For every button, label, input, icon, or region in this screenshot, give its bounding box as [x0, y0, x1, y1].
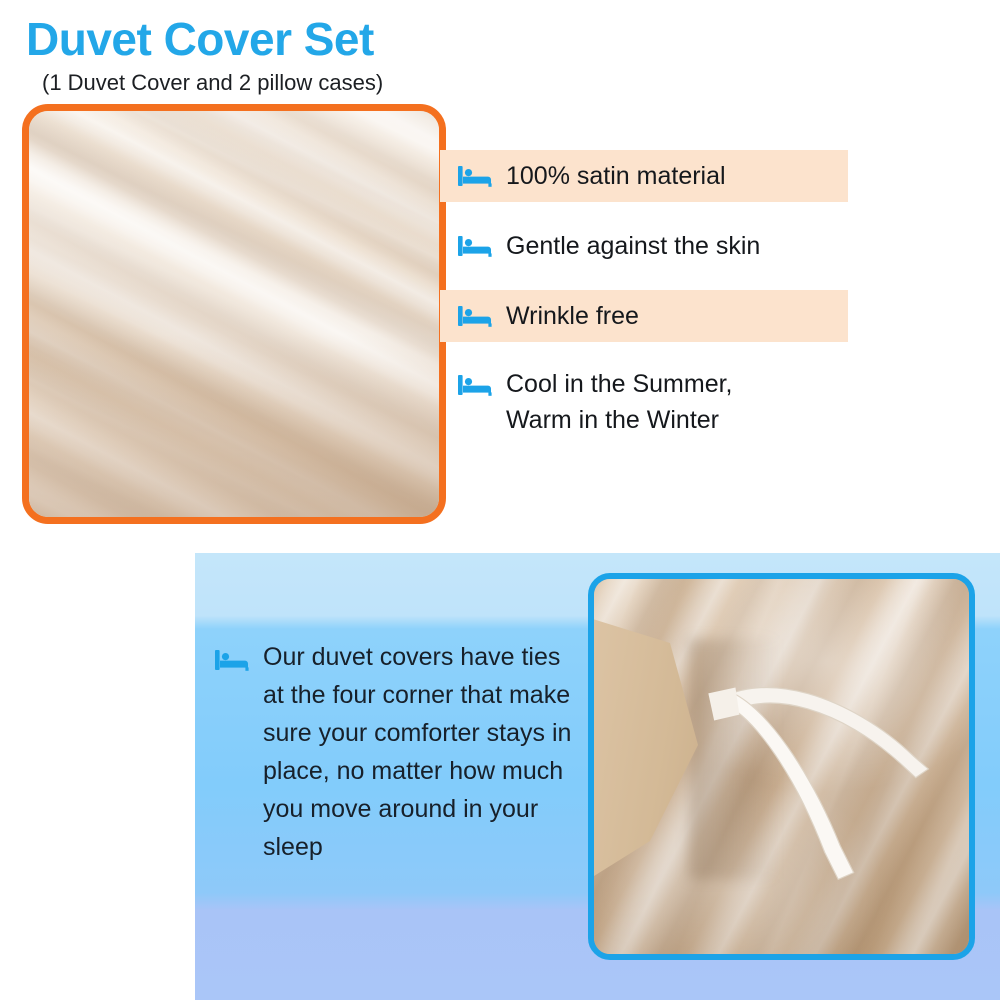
fabric-photo [22, 104, 446, 524]
feature-text: Wrinkle free [506, 298, 639, 334]
satin-shade-layer [29, 111, 439, 517]
feature-row: 100% satin material [440, 150, 848, 202]
feature-text: Gentle against the skin [506, 228, 760, 264]
feature-row: Wrinkle free [440, 290, 848, 342]
infographic-page: Duvet Cover Set (1 Duvet Cover and 2 pil… [0, 0, 1000, 1000]
feature-row: Gentle against the skin [440, 220, 760, 272]
top-section: Duvet Cover Set (1 Duvet Cover and 2 pil… [0, 0, 1000, 553]
bed-icon [458, 234, 494, 258]
bed-icon [458, 164, 494, 188]
page-subtitle: (1 Duvet Cover and 2 pillow cases) [42, 72, 383, 94]
bottom-panel: Our duvet covers have ties at the four c… [195, 553, 1000, 1000]
feature-text: 100% satin material [506, 158, 726, 194]
bed-icon [458, 304, 494, 328]
tie-photo [588, 573, 975, 960]
page-title: Duvet Cover Set [26, 16, 374, 62]
bed-icon [458, 373, 494, 397]
feature-row: Cool in the Summer, Warm in the Winter [440, 362, 733, 452]
tie-feature: Our duvet covers have ties at the four c… [215, 638, 575, 866]
ribbon-ties-icon [594, 579, 969, 954]
tie-feature-text: Our duvet covers have ties at the four c… [263, 638, 575, 866]
feature-text: Cool in the Summer, Warm in the Winter [506, 366, 733, 438]
bed-icon [215, 648, 251, 672]
